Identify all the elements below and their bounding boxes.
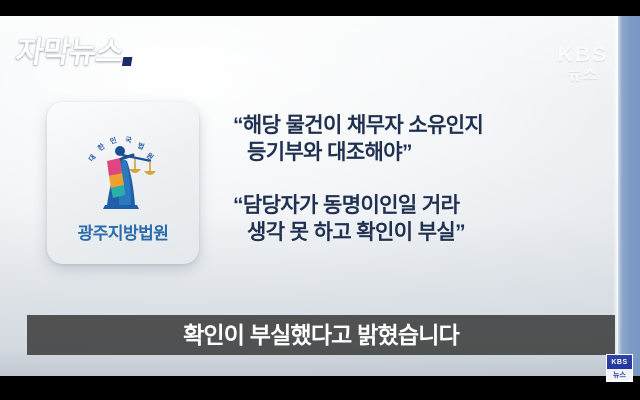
svg-text:민: 민	[109, 135, 118, 146]
network-watermark: KBS 뉴스	[558, 44, 608, 84]
program-logo: 자막뉴스	[14, 38, 136, 68]
quote-1-line-1: “해당 물건이 채무자 소유인지	[233, 112, 483, 139]
subtitle-caption-text: 확인이 부실했다고 밝혔습니다	[183, 324, 459, 347]
program-logo-text: 자막뉴스	[14, 38, 125, 68]
network-watermark-sub: 뉴스	[558, 66, 608, 84]
quote-2-line-1: “담당자가 동명이인일 거라	[233, 192, 465, 219]
svg-text:국: 국	[125, 136, 133, 145]
background-wall-strip	[618, 16, 640, 376]
subtitle-caption-bar: 확인이 부실했다고 밝혔습니다	[27, 315, 615, 355]
court-name-label: 광주지방법원	[78, 219, 169, 244]
svg-text:법: 법	[136, 140, 146, 151]
svg-text:한: 한	[96, 141, 107, 152]
court-logo-card: 대 한 민 국 법 원	[47, 102, 199, 264]
network-watermark-mark: KBS	[558, 44, 608, 66]
news-channel-bug: KBS 뉴스	[606, 354, 633, 382]
program-logo-accent-square	[122, 57, 132, 66]
video-screen: 자막뉴스 KBS 뉴스 대 한 민 국 법 원	[0, 0, 640, 400]
news-bug-sub: 뉴스	[607, 369, 632, 380]
quote-2-line-2: 생각 못 하고 확인이 부실”	[233, 219, 465, 246]
video-frame: 자막뉴스 KBS 뉴스 대 한 민 국 법 원	[0, 16, 640, 376]
quote-1-line-2: 등기부와 대조해야”	[233, 139, 483, 166]
quote-block-1: “해당 물건이 채무자 소유인지 등기부와 대조해야”	[233, 112, 483, 167]
letterbox-top	[0, 0, 640, 16]
quote-block-2: “담당자가 동명이인일 거라 생각 못 하고 확인이 부실”	[233, 192, 465, 247]
news-bug-mark: KBS	[607, 355, 632, 369]
letterbox-bottom	[0, 376, 640, 400]
svg-text:대: 대	[86, 152, 97, 163]
court-emblem-icon: 대 한 민 국 법 원	[67, 129, 179, 215]
